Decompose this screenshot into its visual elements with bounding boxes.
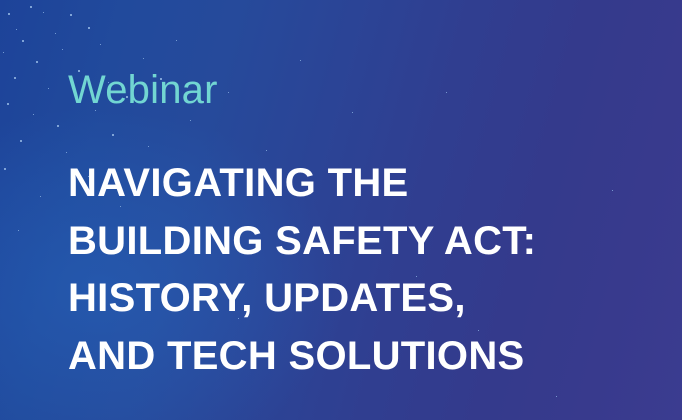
title-line-1: NAVIGATING THE	[68, 155, 668, 213]
title-line-4: AND TECH SOLUTIONS	[68, 328, 668, 386]
card-content: Webinar NAVIGATING THE BUILDING SAFETY A…	[0, 0, 682, 420]
title-line-3: HISTORY, UPDATES,	[68, 270, 668, 328]
title-line-2: BUILDING SAFETY ACT:	[68, 213, 668, 271]
webinar-title-card: Webinar NAVIGATING THE BUILDING SAFETY A…	[0, 0, 682, 420]
page-title: NAVIGATING THE BUILDING SAFETY ACT: HIST…	[68, 155, 668, 385]
eyebrow-label: Webinar	[68, 68, 218, 112]
